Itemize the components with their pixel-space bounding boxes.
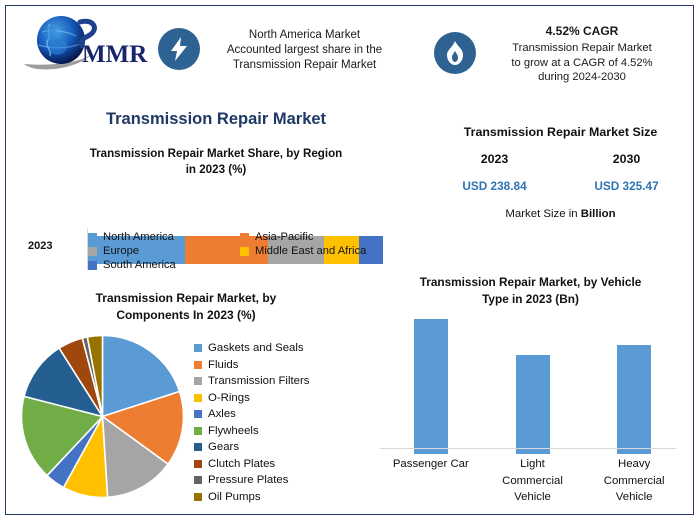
- legend-swatch-icon: [194, 377, 202, 385]
- pie-legend-item-flywheels: Flywheels: [194, 423, 362, 440]
- label-line: Heavy: [583, 456, 685, 473]
- legend-item-south-america: South America: [88, 259, 240, 271]
- pie-plot-area: [20, 334, 185, 499]
- na-line-1: North America Market: [202, 28, 407, 43]
- legend-swatch-icon: [194, 394, 202, 402]
- vehicle-bar-light-commercial-vehicle: [516, 355, 550, 454]
- legend-label: O-Rings: [208, 392, 250, 404]
- page-title: Transmission Repair Market: [6, 110, 426, 129]
- legend-swatch-icon: [194, 443, 202, 451]
- region-plot-area: 2023: [6, 188, 426, 230]
- cagr-line-2: to grow at a CAGR of 4.52%: [482, 56, 682, 71]
- legend-label: Europe: [103, 245, 139, 257]
- pie-title-line-1: Transmission Repair Market, by: [36, 290, 336, 307]
- label-line: Commercial: [583, 473, 685, 490]
- pie-legend-item-fluids: Fluids: [194, 357, 362, 374]
- legend-label: South America: [103, 259, 176, 271]
- legend-item-europe: Europe: [88, 245, 240, 257]
- cagr-line-3: during 2024-2030: [482, 70, 682, 85]
- pie-legend-item-clutch-plates: Clutch Plates: [194, 456, 362, 473]
- legend-swatch-icon: [194, 493, 202, 501]
- legend-label: Clutch Plates: [208, 458, 275, 470]
- vehicle-plot-area: [380, 304, 685, 454]
- legend-swatch-icon: [194, 427, 202, 435]
- pie-legend-item-pressure-plates: Pressure Plates: [194, 472, 362, 489]
- legend-label: Gears: [208, 441, 239, 453]
- market-size-footnote-unit: Billion: [581, 208, 616, 220]
- vehicle-bar-passenger-car: [414, 319, 448, 454]
- vehicle-x-label-passenger-car: Passenger Car: [380, 456, 482, 506]
- market-size-year-2030: 2030: [591, 152, 663, 166]
- svg-text:MMR: MMR: [82, 41, 148, 68]
- flame-icon: [434, 32, 476, 74]
- market-size-value-2023: USD 238.84: [459, 179, 531, 193]
- region-chart-title: Transmission Repair Market Share, by Reg…: [16, 146, 416, 177]
- legend-item-middle-east-and-africa: Middle East and Africa: [240, 245, 366, 257]
- legend-label: Asia-Pacific: [255, 231, 313, 243]
- vehicle-x-label-heavy-commercial-vehicle: HeavyCommercialVehicle: [583, 456, 685, 506]
- legend-label: Axles: [208, 408, 236, 420]
- label-line: Commercial: [482, 473, 584, 490]
- vehicle-x-label-light-commercial-vehicle: LightCommercialVehicle: [482, 456, 584, 506]
- market-size-value-2030: USD 325.47: [591, 179, 663, 193]
- north-america-callout: North America Market Accounted largest s…: [202, 28, 407, 74]
- region-title-line-1: Transmission Repair Market Share, by Reg…: [16, 146, 416, 162]
- legend-label: Flywheels: [208, 425, 259, 437]
- legend-swatch-icon: [194, 410, 202, 418]
- legend-label: Gaskets and Seals: [208, 342, 304, 354]
- label-line: Light: [482, 456, 584, 473]
- vehicle-title-line-1: Transmission Repair Market, by Vehicle: [381, 274, 681, 291]
- pie-title-line-2: Components In 2023 (%): [36, 307, 336, 324]
- legend-label: Oil Pumps: [208, 491, 261, 503]
- region-title-line-2: in 2023 (%): [16, 162, 416, 178]
- legend-swatch-icon: [194, 344, 202, 352]
- pie-legend: Gaskets and SealsFluidsTransmission Filt…: [194, 340, 362, 505]
- region-legend: North America Asia-Pacific Europe Middle…: [88, 231, 408, 273]
- lightning-bolt-icon: [158, 28, 200, 70]
- legend-swatch-icon: [88, 261, 97, 270]
- label-line: Vehicle: [482, 489, 584, 506]
- legend-swatch-icon: [194, 361, 202, 369]
- vehicle-x-axis-labels: Passenger CarLightCommercialVehicleHeavy…: [380, 456, 685, 506]
- pie-legend-item-gaskets-and-seals: Gaskets and Seals: [194, 340, 362, 357]
- legend-swatch-icon: [194, 476, 202, 484]
- market-size-values: USD 238.84 USD 325.47: [426, 179, 695, 193]
- vehicle-bar-heavy-commercial-vehicle: [617, 345, 651, 454]
- infographic-canvas: MMR North America Market Accounted large…: [5, 5, 694, 515]
- vehicle-axis-line: [380, 448, 676, 449]
- legend-label: Pressure Plates: [208, 474, 288, 486]
- pie-svg: [20, 334, 185, 499]
- market-size-panel: Transmission Repair Market Size 2023 203…: [426, 124, 695, 264]
- legend-swatch-icon: [240, 233, 249, 242]
- legend-swatch-icon: [88, 233, 97, 242]
- legend-swatch-icon: [240, 247, 249, 256]
- market-size-years: 2023 2030: [426, 152, 695, 166]
- market-size-footnote: Market Size in Billion: [426, 208, 695, 220]
- legend-label: Fluids: [208, 359, 238, 371]
- region-category-label: 2023: [28, 240, 52, 252]
- legend-swatch-icon: [194, 460, 202, 468]
- legend-item-north-america: North America: [88, 231, 240, 243]
- pie-legend-item-o-rings: O-Rings: [194, 390, 362, 407]
- vehicle-chart-title: Transmission Repair Market, by Vehicle T…: [381, 274, 681, 307]
- pie-legend-item-gears: Gears: [194, 439, 362, 456]
- market-size-title: Transmission Repair Market Size: [453, 124, 668, 141]
- legend-label: Transmission Filters: [208, 375, 309, 387]
- pie-chart-title: Transmission Repair Market, by Component…: [36, 290, 336, 324]
- cagr-line-1: Transmission Repair Market: [482, 41, 682, 56]
- legend-label: North America: [103, 231, 174, 243]
- label-line: Vehicle: [583, 489, 685, 506]
- market-size-year-2023: 2023: [459, 152, 531, 166]
- pie-legend-item-oil-pumps: Oil Pumps: [194, 489, 362, 506]
- na-line-2: Accounted largest share in the: [202, 43, 407, 58]
- pie-legend-item-axles: Axles: [194, 406, 362, 423]
- legend-swatch-icon: [88, 247, 97, 256]
- cagr-headline: 4.52% CAGR: [482, 24, 682, 40]
- vehicle-type-chart: Transmission Repair Market, by Vehicle T…: [366, 274, 695, 516]
- na-line-3: Transmission Repair Market: [202, 58, 407, 73]
- cagr-callout: 4.52% CAGR Transmission Repair Market to…: [482, 24, 682, 85]
- globe-swoosh-logo: MMR: [20, 12, 155, 74]
- header-band: MMR North America Market Accounted large…: [6, 6, 695, 94]
- market-size-footnote-prefix: Market Size in: [505, 208, 580, 220]
- pie-legend-item-transmission-filters: Transmission Filters: [194, 373, 362, 390]
- legend-item-asia-pacific: Asia-Pacific: [240, 231, 313, 243]
- legend-label: Middle East and Africa: [255, 245, 366, 257]
- label-line: Passenger Car: [380, 456, 482, 473]
